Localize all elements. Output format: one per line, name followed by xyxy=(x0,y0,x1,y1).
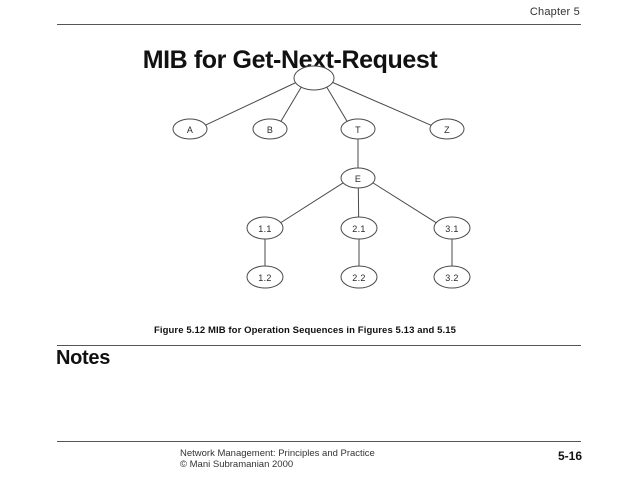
tree-edge-root-to-b xyxy=(281,87,302,122)
slide-canvas: Chapter 5 MIB for Get-Next-Request ABTZE… xyxy=(0,0,640,480)
footer-credit-line-2: © Mani Subramanian 2000 xyxy=(180,459,375,470)
tree-node-label-e: E xyxy=(355,174,361,184)
notes-heading: Notes xyxy=(56,347,110,370)
tree-edge-root-to-t xyxy=(327,87,348,122)
tree-node-label-n32: 3.2 xyxy=(445,273,458,283)
tree-node-label-a: A xyxy=(187,125,193,135)
tree-node-layer xyxy=(173,66,470,288)
footer-credit: Network Management: Principles and Pract… xyxy=(180,448,375,470)
tree-node-label-b: B xyxy=(267,125,273,135)
notes-area[interactable] xyxy=(57,375,581,437)
footer-divider xyxy=(57,441,581,442)
tree-node-label-t: T xyxy=(355,125,361,135)
figure-caption: Figure 5.12 MIB for Operation Sequences … xyxy=(0,325,640,336)
tree-edge-e-to-n31 xyxy=(372,183,436,224)
tree-node-label-n11: 1.1 xyxy=(258,224,271,234)
page-title: MIB for Get-Next-Request xyxy=(0,46,640,75)
notes-divider xyxy=(57,345,581,346)
tree-node-label-z: Z xyxy=(444,125,450,135)
tree-node-label-n22: 2.2 xyxy=(352,273,365,283)
tree-node-label-n12: 1.2 xyxy=(258,273,271,283)
header-divider xyxy=(57,24,581,25)
page-number: 5-16 xyxy=(545,449,595,463)
chapter-label: Chapter 5 xyxy=(530,6,580,18)
tree-node-label-n31: 3.1 xyxy=(445,224,458,234)
footer-credit-line-1: Network Management: Principles and Pract… xyxy=(180,448,375,459)
tree-edge-layer xyxy=(205,82,452,266)
tree-edge-root-to-z xyxy=(332,82,432,125)
tree-node-label-n21: 2.1 xyxy=(352,224,365,234)
tree-edge-e-to-n11 xyxy=(280,183,343,223)
tree-edge-root-to-a xyxy=(205,82,296,125)
